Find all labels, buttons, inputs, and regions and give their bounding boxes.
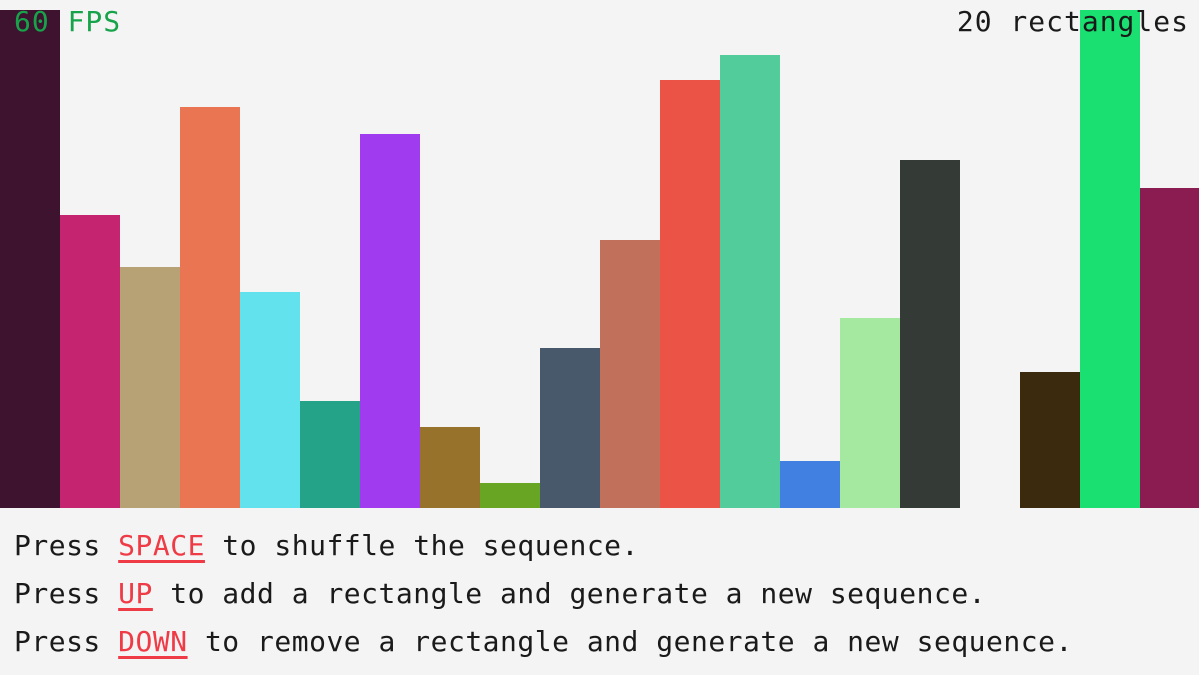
key-down[interactable]: DOWN	[118, 625, 187, 658]
bar-3	[120, 267, 180, 508]
bar-5	[240, 292, 300, 508]
bar-6	[300, 401, 360, 508]
bar-14	[780, 461, 840, 508]
instruction-line-3: Press DOWN to remove a rectangle and gen…	[14, 618, 1199, 666]
instruction-suffix: to remove a rectangle and generate a new…	[188, 625, 1073, 658]
key-up[interactable]: UP	[118, 577, 153, 610]
bar-18	[1020, 372, 1080, 508]
bar-13	[720, 55, 780, 508]
bar-chart	[0, 0, 1199, 508]
bar-2	[60, 215, 120, 508]
instruction-suffix: to add a rectangle and generate a new se…	[153, 577, 986, 610]
instruction-prefix: Press	[14, 577, 118, 610]
fps-counter: 60 FPS	[14, 7, 121, 37]
key-space[interactable]: SPACE	[118, 529, 205, 562]
bar-8	[420, 427, 480, 508]
bar-11	[600, 240, 660, 508]
bar-16	[900, 160, 960, 508]
bar-15	[840, 318, 900, 508]
bar-4	[180, 107, 240, 508]
bar-7	[360, 134, 420, 508]
rectangle-count-label: 20 rectangles	[957, 7, 1189, 37]
instruction-suffix: to shuffle the sequence.	[205, 529, 639, 562]
bar-1	[0, 10, 60, 508]
bar-19	[1080, 10, 1140, 508]
instruction-line-1: Press SPACE to shuffle the sequence.	[14, 522, 1199, 570]
instruction-line-2: Press UP to add a rectangle and generate…	[14, 570, 1199, 618]
instruction-prefix: Press	[14, 625, 118, 658]
instruction-prefix: Press	[14, 529, 118, 562]
bar-10	[540, 348, 600, 508]
instructions-panel: Press SPACE to shuffle the sequence.Pres…	[0, 508, 1199, 675]
app-root: 60 FPS 20 rectangles Press SPACE to shuf…	[0, 0, 1199, 675]
bar-12	[660, 80, 720, 508]
bar-9	[480, 483, 540, 508]
bar-20	[1140, 188, 1199, 508]
